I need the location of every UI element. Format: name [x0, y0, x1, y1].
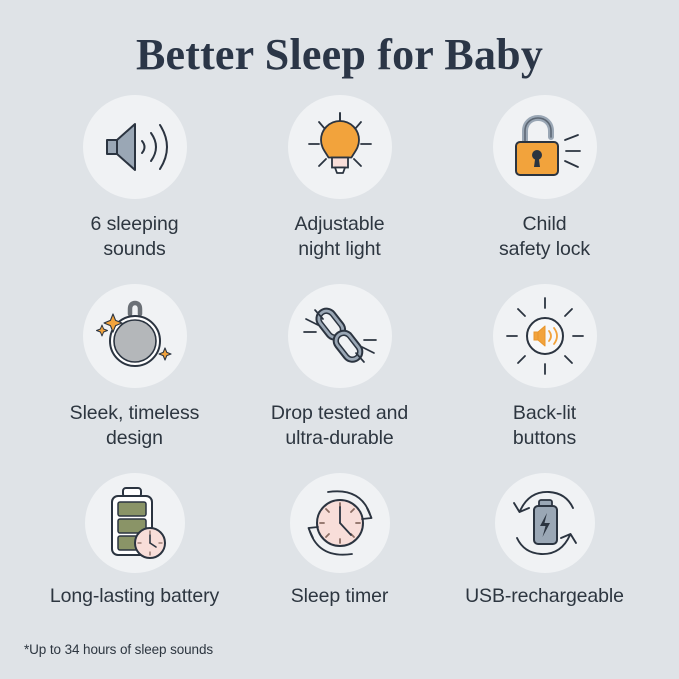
feature-item-backlit-buttons: Back-litbuttons [442, 284, 647, 451]
feature-label: Sleep timer [291, 584, 389, 609]
infographic-page: Better Sleep for Baby [0, 0, 679, 679]
feature-row-3: Long-lasting battery [0, 473, 679, 609]
backlit-button-icon [505, 296, 585, 376]
feature-label: USB-rechargeable [465, 584, 624, 609]
icon-circle [493, 95, 597, 199]
icon-circle [85, 473, 185, 573]
feature-label: Long-lasting battery [50, 584, 219, 609]
light-bulb-icon [303, 110, 377, 184]
page-title: Better Sleep for Baby [136, 31, 543, 79]
icon-circle [493, 284, 597, 388]
feature-item-sleek-design: Sleek, timelessdesign [32, 284, 237, 451]
icon-circle [83, 284, 187, 388]
feature-label: Drop tested andultra-durable [271, 401, 408, 451]
feature-item-safety-lock: Childsafety lock [442, 95, 647, 262]
feature-item-night-light: Adjustablenight light [237, 95, 442, 262]
battery-clock-icon [99, 485, 171, 561]
feature-item-sleep-timer: Sleep timer [237, 473, 442, 609]
icon-circle [83, 95, 187, 199]
chain-link-icon [301, 300, 379, 372]
icon-circle [288, 95, 392, 199]
padlock-icon [508, 113, 582, 181]
clock-rotate-icon [300, 484, 380, 562]
feature-item-long-battery: Long-lasting battery [32, 473, 237, 609]
feature-item-drop-tested: Drop tested andultra-durable [237, 284, 442, 451]
feature-row-2: Sleek, timelessdesign [0, 284, 679, 451]
icon-circle [290, 473, 390, 573]
feature-row-1: 6 sleepingsounds [0, 95, 679, 262]
feature-label: Childsafety lock [499, 212, 590, 262]
feature-item-usb-rechargeable: USB-rechargeable [442, 473, 647, 609]
feature-grid: 6 sleepingsounds [0, 95, 679, 609]
feature-label: 6 sleepingsounds [91, 212, 179, 262]
battery-recharge-icon [505, 484, 585, 562]
speaker-waves-icon [99, 116, 171, 178]
feature-item-sleeping-sounds: 6 sleepingsounds [32, 95, 237, 262]
icon-circle [288, 284, 392, 388]
feature-label: Back-litbuttons [513, 401, 576, 451]
icon-circle [495, 473, 595, 573]
feature-label: Sleek, timelessdesign [70, 401, 200, 451]
pendant-sparkle-icon [96, 298, 174, 374]
footnote-text: *Up to 34 hours of sleep sounds [24, 642, 213, 657]
feature-label: Adjustablenight light [294, 212, 384, 262]
